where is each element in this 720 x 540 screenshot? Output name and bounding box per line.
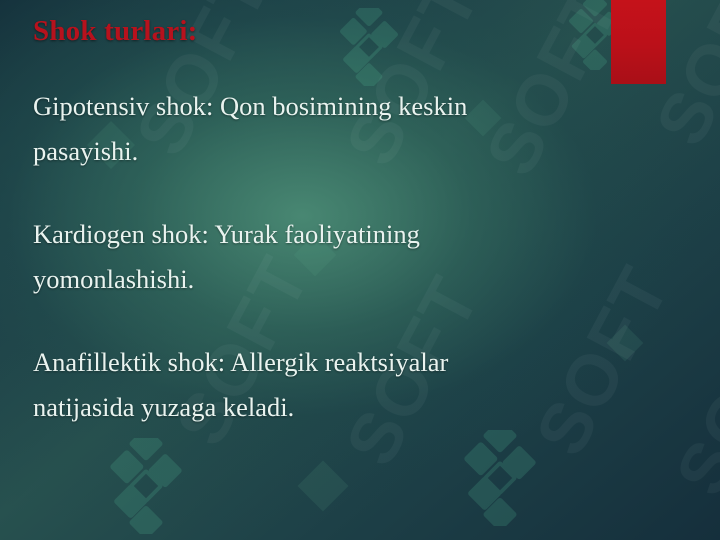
slide-content: Shok turlari: Gipotensiv shok: Qon bosim…: [33, 0, 720, 540]
paragraph-line: Gipotensiv shok: Qon bosimining keskin: [33, 84, 653, 129]
presentation-slide: SOFTSOFTSOFTSOFTSOFTSOFTSOFTSOFT Shok tu…: [0, 0, 720, 540]
paragraph-line: Kardiogen shok: Yurak faoliyatining: [33, 212, 653, 257]
body-paragraph-2: Kardiogen shok: Yurak faoliyatining yomo…: [33, 212, 653, 302]
body-paragraph-3: Anafillektik shok: Allergik reaktsiyalar…: [33, 340, 653, 430]
paragraph-line: yomonlashishi.: [33, 257, 653, 302]
paragraph-line: natijasida yuzaga keladi.: [33, 385, 653, 430]
slide-title: Shok turlari:: [33, 15, 198, 48]
paragraph-line: pasayishi.: [33, 129, 653, 174]
body-paragraph-1: Gipotensiv shok: Qon bosimining keskin p…: [33, 84, 653, 174]
paragraph-line: Anafillektik shok: Allergik reaktsiyalar: [33, 340, 653, 385]
